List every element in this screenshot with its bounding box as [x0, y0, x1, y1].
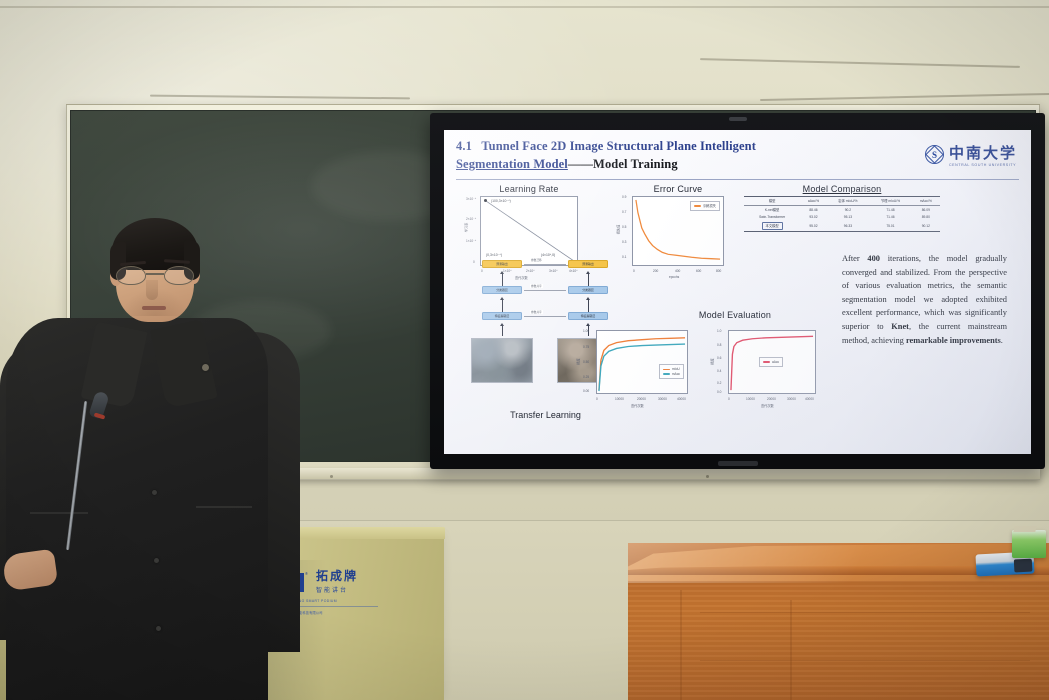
model-evaluation-title: Model Evaluation [640, 310, 830, 320]
me-left-lines [597, 331, 687, 393]
model-evaluation-chart-right: aAcc 1.0 0.8 0.6 0.4 0.2 0.0 精度 0 10000 … [728, 330, 816, 394]
error-curve-title: Error Curve [632, 184, 724, 194]
lr-ytick-1: 1×10⁻⁴ [466, 239, 476, 243]
cell-model: 本文模型 [744, 220, 800, 231]
me1-ylabel: 精度 [576, 358, 581, 364]
university-name-en: CENTRAL SOUTH UNIVERSITY [949, 163, 1017, 167]
university-name-cn: 中南大学 [949, 142, 1017, 163]
panel-model-evaluation: Model Evaluation [640, 310, 830, 322]
col-aacc: aAcc/% [800, 197, 826, 206]
title-divider [456, 179, 1019, 180]
me-right-axes: aAcc 1.0 0.8 0.6 0.4 0.2 0.0 精度 0 10000 … [728, 330, 816, 394]
tl-arrow-left-1 [502, 274, 503, 286]
table-row: Swin-Transformer 93.02 95.13 71.46 89.80 [744, 214, 940, 221]
slide-title-number: 4.1 [456, 139, 472, 153]
me1-xtick-3: 30000 [658, 397, 667, 401]
tl-link-label-bot: 参数共享 [530, 310, 543, 314]
display-camera-icon [729, 117, 747, 121]
legend-swatch-macc [663, 373, 670, 375]
me-right-legend: aAcc [759, 357, 783, 367]
jacket-pocket-right [196, 506, 252, 508]
university-logo: 中南大学 CENTRAL SOUTH UNIVERSITY [925, 142, 1017, 167]
me1-ytick-0: 0.00 [583, 389, 589, 393]
slide-title: 4.1 Tunnel Face 2D Image Structural Plan… [456, 138, 871, 174]
tl-node-left-output: 预测输出 [482, 260, 522, 268]
ec-ytick-1: 0.1 [622, 255, 626, 259]
jacket-pocket-left [30, 512, 88, 514]
tl-node-left-classifier: 分类器层 [482, 286, 522, 294]
tl-arrow-right-1 [588, 274, 589, 286]
legend-swatch-miou [663, 369, 670, 371]
glasses-lens-right [164, 266, 194, 285]
tl-node-left-features: 特征提取层 [482, 312, 522, 320]
cell-joint: 71.46 [869, 214, 912, 221]
legend-label-macc: mAcc [672, 372, 680, 377]
nose [146, 280, 158, 300]
desk-panel-line-3 [680, 590, 682, 700]
table-row-highlighted: 本文模型 95.02 96.33 75.01 90.12 [744, 220, 940, 231]
slide-title-line2: Segmentation Model [456, 157, 568, 171]
podium-brand-cn: 拓成牌 [316, 570, 358, 583]
ec-ytick-4: 0.7 [622, 210, 626, 214]
col-joint-miou: 节理 mIoU/% [869, 197, 912, 206]
tl-node-right-classifier: 分类器层 [568, 286, 608, 294]
ec-xtick-0: 0 [633, 269, 635, 273]
glasses-bridge [146, 273, 164, 275]
eraser-grip [1014, 559, 1033, 573]
error-curve-legend: 训练损失 [690, 201, 720, 211]
ec-ytick-3: 0.5 [622, 225, 626, 229]
tl-node-right-output: 预测输出 [568, 260, 608, 268]
me2-xtick-3: 30000 [787, 397, 796, 401]
table-header-row: 模型 aAcc/% 岩体 mIoU/% 节理 mIoU/% mAcc/% [744, 197, 940, 206]
tl-arrow-left-2 [502, 300, 503, 312]
panel-model-comparison: Model Comparison 模型 aAcc/% 岩体 mIoU/% 节理 … [744, 184, 940, 232]
col-model: 模型 [744, 197, 800, 206]
cell-macc: 89.80 [912, 214, 940, 221]
presenter [0, 222, 320, 700]
slide-title-line2-rest: ——Model Training [568, 157, 678, 171]
me1-xtick-4: 40000 [677, 397, 686, 401]
panel-error-curve: Error Curve 训练损失 0.9 0.7 0.5 0.3 [632, 184, 724, 266]
me2-xtick-0: 0 [728, 397, 730, 401]
table-head: 模型 aAcc/% 岩体 mIoU/% 节理 mIoU/% mAcc/% [744, 197, 940, 206]
me2-ytick-2: 0.4 [717, 369, 721, 373]
cell-aacc: 88.46 [800, 205, 826, 213]
desk-panel-line-1 [700, 612, 1030, 613]
cell-model: Swin-Transformer [744, 214, 800, 221]
tl-link-bot [524, 316, 566, 317]
me1-ytick-2: 0.50 [583, 360, 589, 364]
jacket-button [152, 490, 157, 495]
me1-ytick-1: 0.25 [583, 375, 589, 379]
cell-rock: 90.2 [827, 205, 870, 213]
me1-ytick-3: 0.75 [583, 345, 589, 349]
tl-arrow-left-3 [502, 326, 503, 336]
tl-photo-source [471, 338, 533, 383]
ec-ylabel: 损失值 [615, 225, 620, 235]
cell-rock: 95.13 [827, 214, 870, 221]
me1-ytick-4: 1.00 [583, 329, 589, 333]
cell-aacc: 95.02 [800, 220, 826, 231]
me2-ytick-1: 0.2 [717, 381, 721, 385]
tray-mark [706, 475, 709, 478]
me2-xtick-4: 40000 [805, 397, 814, 401]
cell-joint: 75.01 [869, 220, 912, 231]
me-left-axes: mIoU mAcc 1.00 0.75 0.50 0.25 0.00 精度 0 … [596, 330, 688, 394]
lr-ytick-3: 3×10⁻⁴ [466, 197, 476, 201]
lr-annotation-3: (4×10⁴,0) [541, 253, 555, 257]
legend-label-loss: 训练损失 [703, 204, 716, 209]
ec-ytick-5: 0.9 [622, 195, 626, 199]
slide-title-line1: Tunnel Face 2D Image Structural Plane In… [481, 139, 756, 153]
learning-rate-chart: (100,3×10⁻⁴) (0,3×10⁻⁴) (4×10⁴,0) 3×10⁻⁴… [480, 196, 578, 266]
mouth [142, 306, 166, 310]
cell-aacc: 93.02 [800, 214, 826, 221]
col-rock-miou: 岩体 mIoU/% [827, 197, 870, 206]
chalk-box[interactable] [1012, 530, 1046, 558]
tl-link-mid [524, 290, 566, 291]
slide: 4.1 Tunnel Face 2D Image Structural Plan… [444, 130, 1031, 454]
jacket-button [154, 558, 159, 563]
display-brand-logo [718, 461, 758, 466]
ec-xtick-2: 400 [675, 269, 680, 273]
model-comparison-table: 模型 aAcc/% 岩体 mIoU/% 节理 mIoU/% mAcc/% K-n… [744, 196, 940, 232]
me2-ytick-3: 0.6 [717, 356, 721, 360]
cell-model-label: 本文模型 [762, 222, 783, 230]
jacket-button [156, 626, 161, 631]
me1-xtick-2: 20000 [637, 397, 646, 401]
tl-node-right-features: 特征提取层 [568, 312, 608, 320]
ec-xtick-4: 800 [716, 269, 721, 273]
ec-ytick-2: 0.3 [622, 240, 626, 244]
cell-rock: 96.33 [827, 220, 870, 231]
col-macc: mAcc/% [912, 197, 940, 206]
me2-ytick-5: 1.0 [717, 329, 721, 333]
table-body: K-net模型 88.46 90.2 71.48 86.09 Swin-Tran… [744, 205, 940, 231]
ec-xlabel: epochs [669, 275, 679, 279]
tl-link-label-top: 参数迁移 [530, 258, 543, 262]
cell-macc: 86.09 [912, 205, 940, 213]
legend-label-aacc: aAcc [772, 360, 779, 365]
ceiling-line [0, 6, 1049, 8]
presentation-screen[interactable]: 4.1 Tunnel Face 2D Image Structural Plan… [444, 130, 1031, 454]
me2-ylabel: 精度 [710, 358, 715, 364]
lecture-room-scene: 4.1 Tunnel Face 2D Image Structural Plan… [0, 0, 1049, 700]
me2-ytick-0: 0.0 [717, 390, 721, 394]
lr-annotation-2: (0,3×10⁻⁴) [486, 253, 502, 257]
desk-panel-line-4 [790, 600, 792, 700]
tl-link-label-mid: 参数共享 [530, 284, 543, 288]
cell-macc: 90.12 [912, 220, 940, 231]
lr-ylabel: 学习率 [463, 223, 468, 233]
legend-swatch-loss [694, 205, 701, 207]
podium-brand-sub: 智能讲台 [316, 585, 358, 594]
legend-swatch-aacc [763, 361, 770, 363]
ec-xtick-1: 200 [653, 269, 658, 273]
lr-annotation-1: (100,3×10⁻⁴) [491, 199, 511, 203]
me2-xtick-1: 10000 [746, 397, 755, 401]
me2-xlabel: 迭代次数 [761, 403, 774, 408]
cell-joint: 71.48 [869, 205, 912, 213]
tray-mark [330, 475, 333, 478]
me1-xtick-0: 0 [596, 397, 598, 401]
me-left-legend: mIoU mAcc [659, 364, 684, 379]
me2-xtick-2: 20000 [767, 397, 776, 401]
ec-xtick-3: 600 [696, 269, 701, 273]
me1-xtick-1: 10000 [615, 397, 624, 401]
panel-learning-rate: Learning Rate (100,3×10⁻⁴) (0,3×10⁻⁴) (4… [480, 184, 578, 266]
glasses-lens-left [116, 266, 146, 285]
me2-ytick-4: 0.8 [717, 343, 721, 347]
desk-panel-line-2 [700, 660, 1030, 661]
slide-paragraph: After 0400 iterations, the model gradual… [842, 252, 1007, 347]
lr-point-start [484, 199, 487, 202]
transfer-learning-caption: Transfer Learning [468, 410, 623, 420]
tl-arrow-right-2 [588, 300, 589, 312]
lapel-badge [202, 364, 209, 371]
model-comparison-title: Model Comparison [744, 184, 940, 194]
me1-xlabel: 迭代次数 [631, 403, 644, 408]
learning-rate-title: Learning Rate [480, 184, 578, 194]
cell-model: K-net模型 [744, 205, 800, 213]
podium-text-block: 拓成牌 智能讲台 [316, 570, 358, 594]
table-row: K-net模型 88.46 90.2 71.48 86.09 [744, 205, 940, 213]
model-evaluation-chart-left: mIoU mAcc 1.00 0.75 0.50 0.25 0.00 精度 0 … [596, 330, 688, 394]
desk-grain [628, 575, 1049, 700]
university-crest-icon [925, 145, 944, 164]
lr-ytick-2: 2×10⁻⁴ [466, 217, 476, 221]
error-curve-chart: 训练损失 0.9 0.7 0.5 0.3 0.1 损失值 0 200 400 6… [632, 196, 724, 266]
tl-link-top [524, 264, 566, 265]
